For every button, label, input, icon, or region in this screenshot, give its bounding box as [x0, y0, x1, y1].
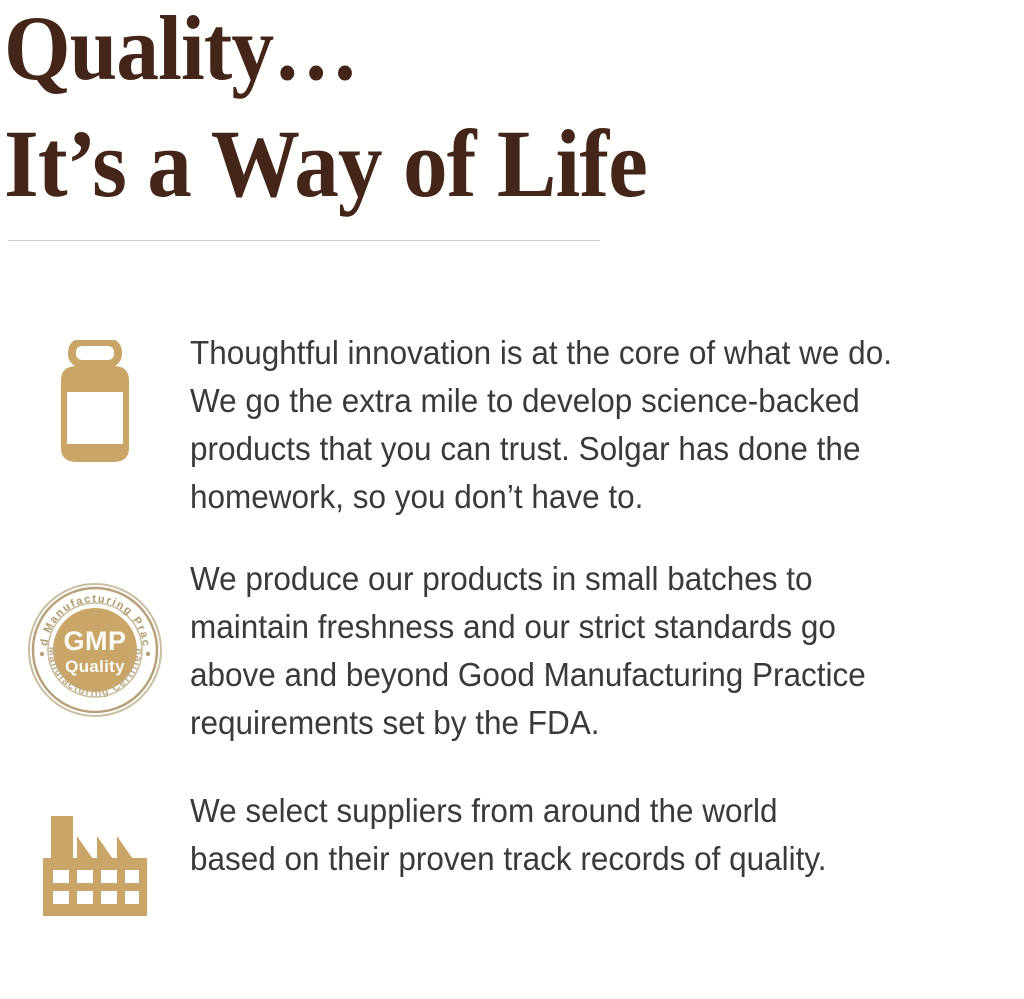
feature-text-innovation: Thoughtful innovation is at the core of …: [190, 330, 966, 522]
feature-item-suppliers: We select suppliers from around the worl…: [0, 788, 1024, 968]
feature-item-gmp: Good Manufacturing Practice Manufacturin…: [0, 540, 1024, 788]
factory-icon: [37, 814, 153, 918]
gmp-quality-seal-icon: Good Manufacturing Practice Manufacturin…: [25, 580, 165, 720]
feature-text-suppliers: We select suppliers from around the worl…: [190, 788, 966, 884]
page-title: Quality… It’s a Way of Life: [4, 0, 1004, 212]
feature-text-gmp: We produce our products in small batches…: [190, 556, 966, 748]
feature-icon-cell: [0, 788, 190, 968]
feature-icon-cell: [0, 300, 190, 540]
svg-text:GMP: GMP: [63, 626, 126, 656]
supplement-bottle-icon: [47, 340, 143, 466]
feature-item-innovation: Thoughtful innovation is at the core of …: [0, 300, 1024, 540]
feature-list: Thoughtful innovation is at the core of …: [0, 300, 1024, 968]
feature-text-cell: Thoughtful innovation is at the core of …: [190, 300, 1024, 522]
page-title-line-2: It’s a Way of Life: [4, 94, 934, 212]
quality-page: Quality… It’s a Way of Life: [0, 0, 1024, 999]
feature-icon-cell: Good Manufacturing Practice Manufacturin…: [0, 540, 190, 788]
page-title-line-1: Quality…: [4, 0, 934, 94]
feature-text-cell: We select suppliers from around the worl…: [190, 788, 1024, 884]
feature-text-cell: We produce our products in small batches…: [190, 540, 1024, 748]
svg-text:Quality: Quality: [65, 657, 125, 676]
divider: [8, 240, 600, 241]
